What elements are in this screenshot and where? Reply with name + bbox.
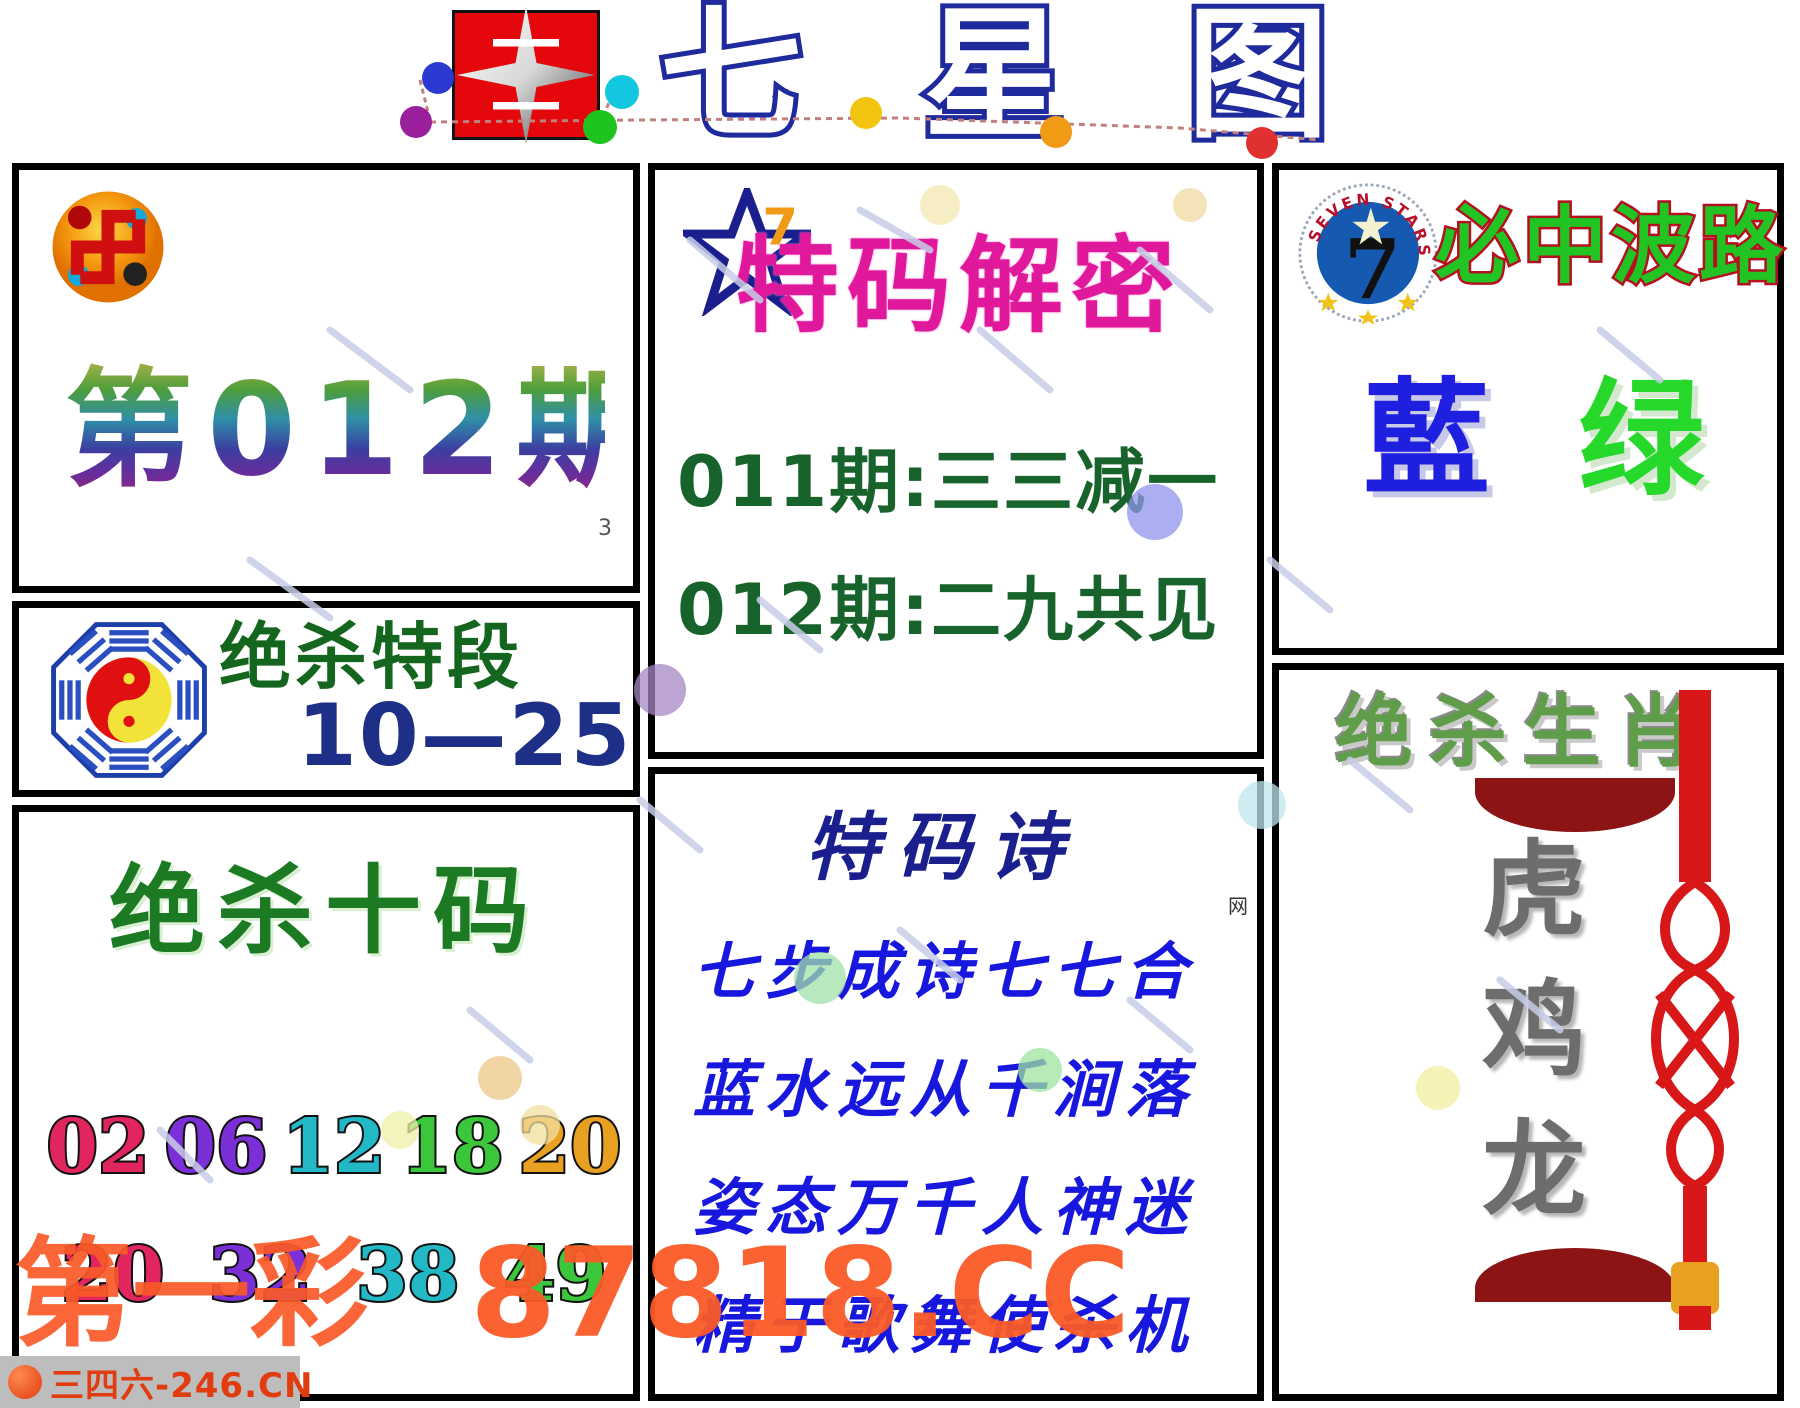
url-watermark: 87818.CC [470, 1228, 1131, 1360]
kill-number: 06 [165, 1104, 268, 1190]
poster-header: 七 星 图 [0, 0, 1800, 172]
zodiac-animal: 龙 [1419, 1100, 1649, 1240]
panel-decode: 7 特码解密 011期:三三减一 012期:二九共见 [648, 163, 1264, 759]
kill-number: 18 [401, 1104, 504, 1190]
decode-line: 011期:三三减一 [677, 440, 1219, 524]
corner-mark: 网 [1228, 890, 1248, 919]
kill-number: 20 [519, 1104, 622, 1190]
wan-symbol-emblem-icon [49, 188, 167, 306]
poem-title: 特码诗 [805, 804, 1081, 892]
kill-number: 12 [283, 1104, 386, 1190]
panel-wave-road: SEVEN STARS 7 必中波路 藍 绿 [1272, 163, 1784, 655]
zodiac-animal: 虎 [1419, 820, 1649, 960]
kill-number: 38 [356, 1232, 459, 1318]
decode-title: 特码解密 [735, 224, 1183, 348]
page-number: 3 [598, 516, 612, 541]
footer-watermark-text: 三四六-246.CN [50, 1358, 313, 1407]
kill-section-range: 10—25 [297, 690, 632, 782]
wave-road-title: 必中波路 [1435, 196, 1787, 296]
zodiac-animal: 鸡 [1419, 960, 1649, 1100]
wave-color-blue: 藍 [1364, 370, 1490, 510]
brand-watermark: 第一彩 [14, 1228, 368, 1360]
orange-ball-icon [8, 1365, 42, 1399]
kill-ten-title: 绝杀十码 [109, 856, 541, 966]
page-title: 七 星 图 [660, 0, 1365, 156]
seven-stars-badge-icon: SEVEN STARS 7 [1297, 182, 1439, 324]
panel-kill-section: 绝杀特段 10—25 [12, 601, 640, 797]
chinese-knot-icon [1635, 690, 1755, 1330]
bagua-yinyang-emblem-icon [47, 618, 211, 782]
zodiac-animal-list: 虎 鸡 龙 [1419, 820, 1649, 1240]
four-point-star-logo [452, 10, 600, 140]
period-label: 第012期 [65, 356, 605, 506]
poem-line: 蓝水远从千涧落 [693, 1052, 1197, 1128]
wave-road-colors: 藍 绿 [1319, 370, 1749, 510]
four-point-star-icon [451, 0, 601, 150]
poster-grid: 第012期 绝杀特段 [12, 163, 1784, 1401]
panel-period: 第012期 [12, 163, 640, 593]
wave-road-title-part-1: 必中波路 [1435, 197, 1787, 295]
kill-number: 02 [47, 1104, 150, 1190]
decode-line: 012期:二九共见 [677, 568, 1219, 652]
wave-color-green: 绿 [1579, 370, 1705, 510]
kill-ten-row-1: 02 06 12 18 20 [39, 1104, 629, 1190]
panel-zodiac: 绝杀生肖 虎 鸡 龙 [1272, 663, 1784, 1401]
footer-watermark-bar: 三四六-246.CN [0, 1356, 300, 1408]
poster-root: 七 星 图 第012期 [0, 0, 1800, 1408]
poem-line: 七步成诗七七合 [693, 934, 1197, 1010]
kill-section-title: 绝杀特段 [219, 618, 523, 696]
